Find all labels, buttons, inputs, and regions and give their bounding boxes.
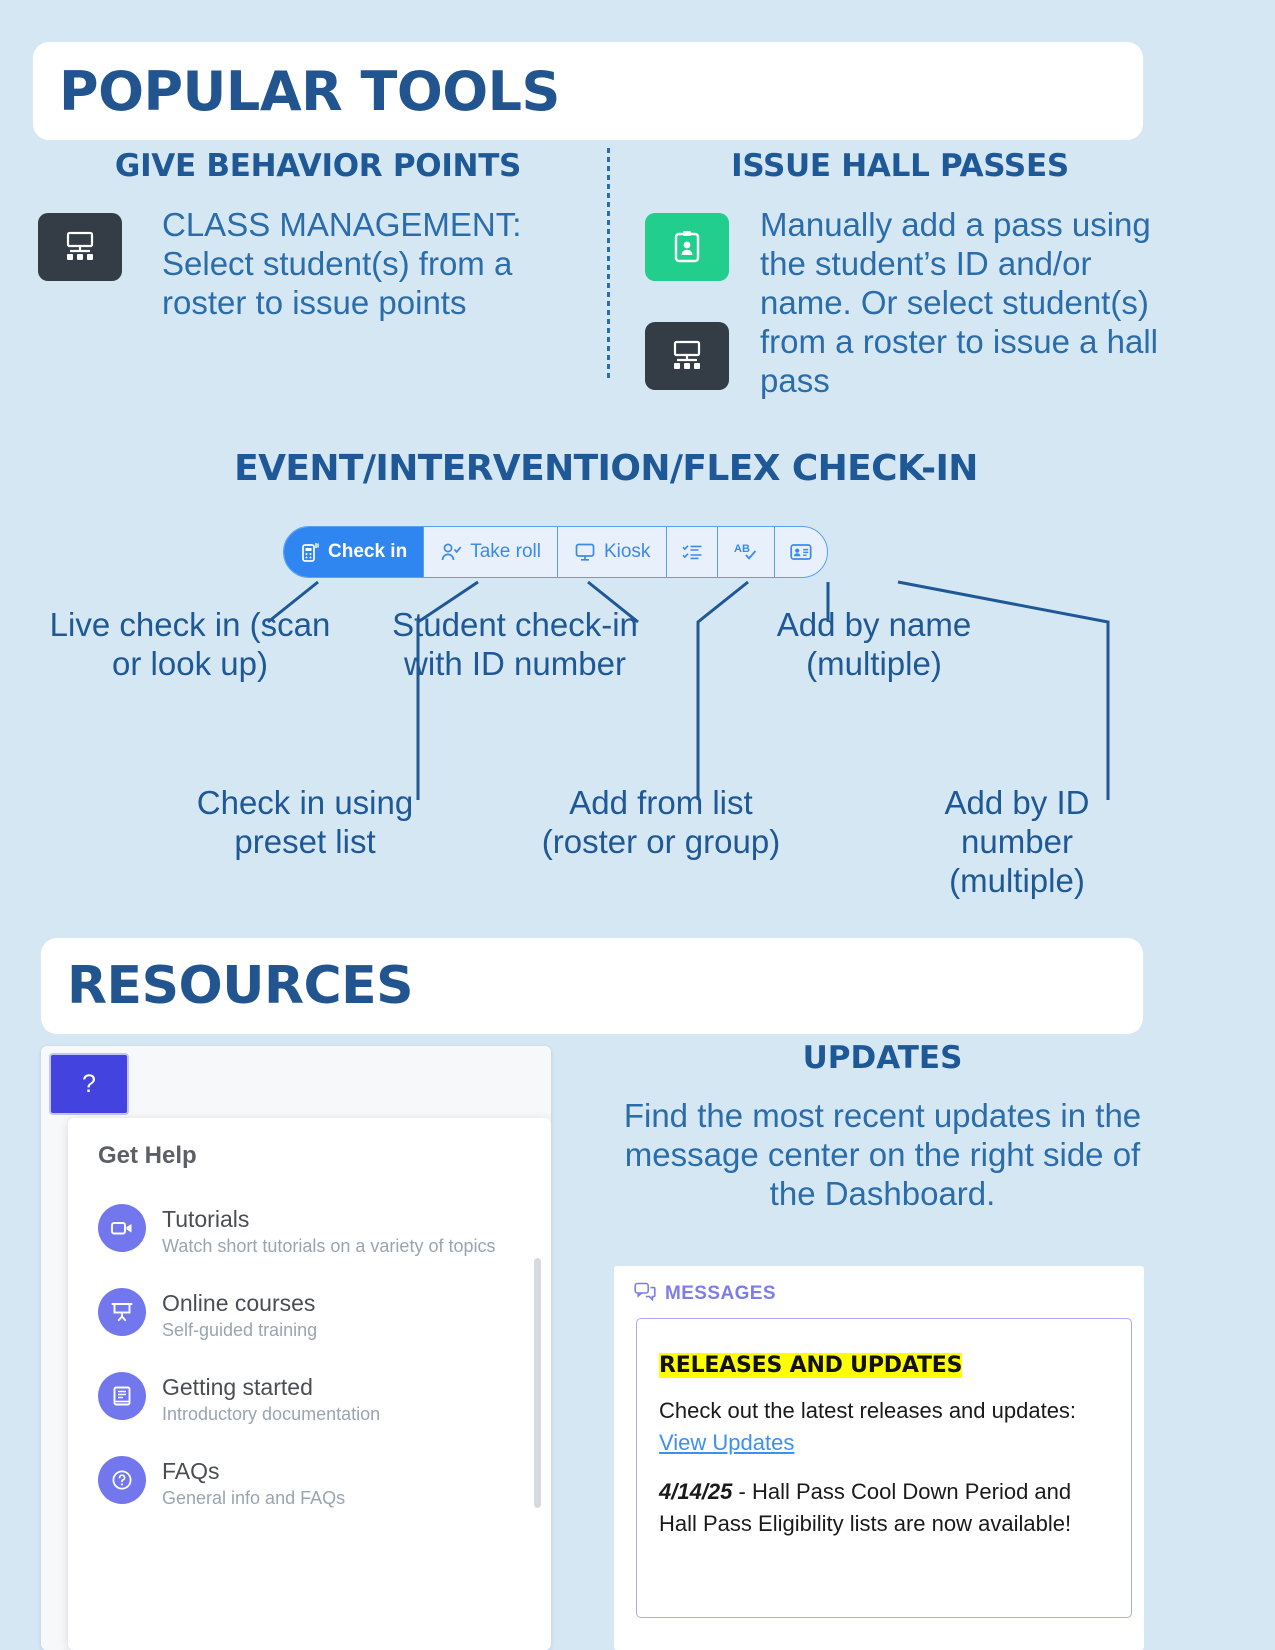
messages-card: MESSAGES RELEASES AND UPDATES Check out …	[614, 1266, 1144, 1650]
checkin-toolbar[interactable]: Check in Take roll Kiosk	[283, 526, 828, 578]
resources-title: RESOURCES	[67, 956, 413, 1016]
issue-hall-passes-heading: ISSUE HALL PASSES	[640, 148, 1160, 184]
updates-description: Find the most recent updates in the mess…	[620, 1096, 1145, 1213]
help-question-button[interactable]: ?	[49, 1053, 129, 1115]
messages-label: MESSAGES	[665, 1283, 776, 1305]
get-help-panel-title: Get Help	[98, 1142, 551, 1170]
message-title: RELEASES AND UPDATES	[659, 1353, 962, 1378]
help-background-strip	[41, 1118, 68, 1650]
video-camera-icon	[98, 1204, 146, 1252]
message-date: 4/14/25	[659, 1479, 732, 1504]
toolbar-tab-id-card[interactable]	[775, 527, 827, 577]
toolbar-tab-take-roll[interactable]: Take roll	[424, 527, 558, 577]
help-item-subtitle: Self-guided training	[162, 1318, 317, 1343]
messages-header: MESSAGES	[614, 1266, 1144, 1306]
give-behavior-points-heading: GIVE BEHAVIOR POINTS	[38, 148, 598, 184]
callout-add-by-id-number: Add by ID number (multiple)	[900, 783, 1134, 900]
event-checkin-heading: EVENT/INTERVENTION/FLEX CHECK-IN	[0, 448, 1212, 489]
get-help-panel: Get Help Tutorials Watch short tutorials…	[68, 1118, 551, 1650]
help-item-subtitle: Introductory documentation	[162, 1402, 380, 1427]
callout-live-check-in: Live check in (scan or look up)	[40, 605, 340, 683]
message-title-row: RELEASES AND UPDATES	[659, 1353, 1109, 1378]
callout-check-in-preset-list: Check in using preset list	[150, 783, 460, 861]
message-paragraph-1: Check out the latest releases and update…	[659, 1395, 1109, 1459]
message-item: RELEASES AND UPDATES Check out the lates…	[636, 1318, 1132, 1618]
toolbar-tab-ab-check[interactable]: AB	[718, 527, 775, 577]
column-divider	[607, 148, 610, 380]
help-item-getting-started[interactable]: Getting started Introductory documentati…	[98, 1372, 551, 1427]
book-icon	[98, 1372, 146, 1420]
get-help-screenshot: ? Get Help Tutorials Watch short tutoria…	[41, 1046, 551, 1650]
id-badge-green-icon	[645, 213, 729, 281]
classroom-dark-icon	[38, 213, 122, 281]
ab-check-icon: AB	[732, 540, 760, 564]
resources-section-bar: RESOURCES	[41, 938, 1143, 1034]
toolbar-tab-kiosk[interactable]: Kiosk	[558, 527, 667, 577]
toolbar-tab-checklist[interactable]	[667, 527, 718, 577]
help-item-subtitle: Watch short tutorials on a variety of to…	[162, 1234, 495, 1259]
help-item-subtitle: General info and FAQs	[162, 1486, 345, 1511]
scanner-icon	[300, 541, 320, 563]
popular-tools-section-bar: POPULAR TOOLS	[33, 42, 1143, 140]
question-circle-icon	[98, 1456, 146, 1504]
help-item-tutorials[interactable]: Tutorials Watch short tutorials on a var…	[98, 1204, 551, 1259]
callout-student-checkin-id: Student check-in with ID number	[390, 605, 640, 683]
behavior-points-text: CLASS MANAGEMENT: Select student(s) from…	[162, 205, 582, 322]
help-item-online-courses[interactable]: Online courses Self-guided training	[98, 1288, 551, 1343]
view-updates-link[interactable]: View Updates	[659, 1430, 794, 1455]
toolbar-tab-kiosk-label: Kiosk	[604, 541, 650, 563]
classroom-dark-icon-2	[645, 322, 729, 390]
help-question-label: ?	[82, 1070, 96, 1099]
help-item-title: Tutorials	[162, 1204, 495, 1234]
popular-tools-title: POPULAR TOOLS	[59, 60, 560, 123]
help-item-title: Online courses	[162, 1288, 317, 1318]
id-card-icon	[789, 542, 813, 562]
message-line1-prefix: Check out the latest releases and update…	[659, 1398, 1076, 1423]
svg-text:AB: AB	[734, 543, 750, 555]
chat-bubbles-icon	[634, 1282, 656, 1306]
presentation-icon	[98, 1288, 146, 1336]
updates-heading: UPDATES	[620, 1040, 1145, 1076]
help-panel-scrollbar[interactable]	[534, 1258, 541, 1508]
callout-add-from-list: Add from list (roster or group)	[530, 783, 792, 861]
toolbar-tab-check-in-label: Check in	[328, 541, 407, 563]
toolbar-tab-take-roll-label: Take roll	[470, 541, 541, 563]
callout-add-by-name: Add by name (multiple)	[740, 605, 1008, 683]
message-paragraph-2: 4/14/25 - Hall Pass Cool Down Period and…	[659, 1476, 1109, 1540]
help-item-title: FAQs	[162, 1456, 345, 1486]
hall-passes-text: Manually add a pass using the student’s …	[760, 205, 1185, 400]
person-check-icon	[440, 542, 462, 562]
help-item-faqs[interactable]: FAQs General info and FAQs	[98, 1456, 551, 1511]
monitor-icon	[574, 542, 596, 562]
toolbar-tab-check-in[interactable]: Check in	[284, 527, 424, 577]
help-item-title: Getting started	[162, 1372, 380, 1402]
checklist-icon	[681, 542, 703, 562]
